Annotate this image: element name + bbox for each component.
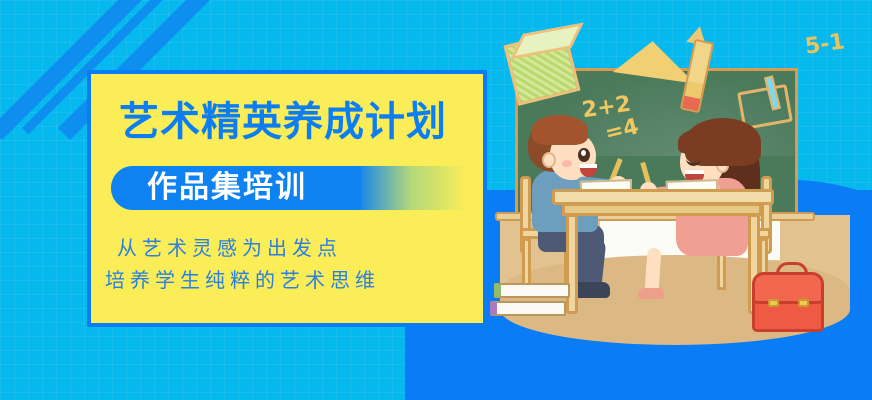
page-title: 艺术精英养成计划	[119, 102, 447, 142]
desk-top	[552, 189, 774, 205]
boy-ear	[542, 152, 556, 168]
girl-teeth	[685, 170, 704, 174]
boy-hair-front	[532, 115, 588, 145]
book-stack	[490, 283, 574, 327]
subtitle-line-2: 培养学生纯粹的艺术思维	[105, 264, 380, 293]
headline-panel: 艺术精英养成计划 作品集培训 从艺术灵感为出发点 培养学生纯粹的艺术思维	[87, 70, 487, 327]
subtitle-line-1: 从艺术灵感为出发点	[117, 232, 342, 261]
book-purple	[490, 301, 566, 316]
pill-badge-label: 作品集培训	[147, 166, 307, 210]
book-green	[494, 283, 570, 298]
boy-eye-highlight	[581, 150, 586, 156]
boy-teeth	[580, 164, 597, 168]
backpack-buckle-right	[798, 299, 809, 307]
backpack-flap	[752, 272, 824, 304]
pill-badge[interactable]: 作品集培训	[111, 166, 471, 210]
promo-banner: 2+2 =4 5-1	[0, 0, 872, 400]
chalk-corner-note: 5-1	[803, 29, 846, 59]
girl-shoe	[638, 288, 664, 299]
classroom-illustration: 2+2 =4 5-1	[480, 0, 872, 400]
girl-fringe	[678, 128, 730, 154]
backpack-buckle-left	[768, 299, 779, 307]
boy-cheek	[562, 160, 572, 167]
